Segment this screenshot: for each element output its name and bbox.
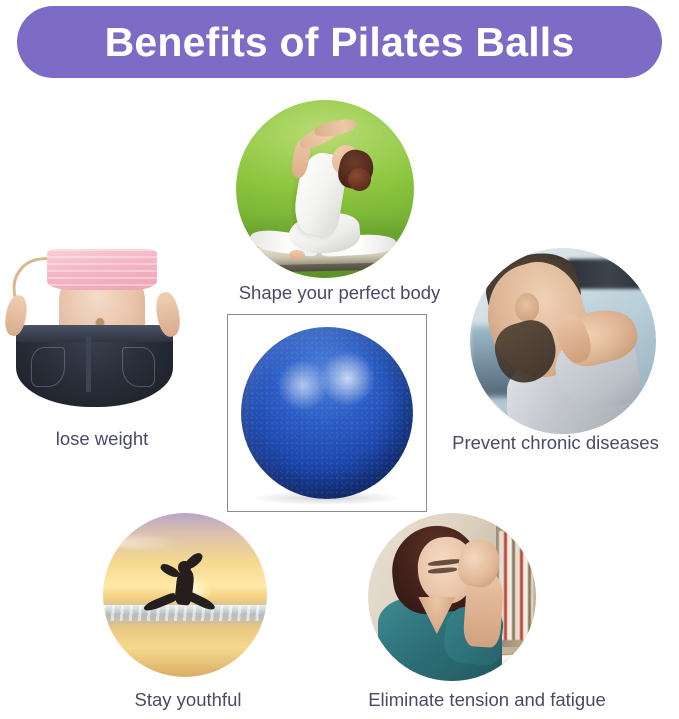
jumping-silhouette xyxy=(152,556,218,641)
blue-pilates-ball xyxy=(241,327,413,499)
clouds xyxy=(110,536,182,549)
pink-tube-top xyxy=(47,249,157,290)
benefit-caption-eliminate-tension-and-fatigue: Eliminate tension and fatigue xyxy=(332,689,642,710)
jeans-pocket-left xyxy=(31,347,64,386)
benefit-image-prevent-chronic-diseases xyxy=(470,248,656,434)
benefit-image-lose-weight xyxy=(4,232,200,418)
page-title: Benefits of Pilates Balls xyxy=(105,22,575,63)
benefit-caption-lose-weight: lose weight xyxy=(4,428,200,449)
jumper-head xyxy=(178,561,190,575)
benefit-caption-stay-youthful: Stay youthful xyxy=(98,689,278,710)
header-banner: Benefits of Pilates Balls xyxy=(17,6,662,78)
white-background xyxy=(4,232,200,418)
jeans-pocket-right xyxy=(122,347,155,386)
product-image-frame xyxy=(227,314,427,512)
benefit-image-shape-your-perfect-body xyxy=(236,100,414,278)
benefit-image-eliminate-tension-and-fatigue xyxy=(368,513,536,681)
benefit-caption-prevent-chronic-diseases: Prevent chronic diseases xyxy=(432,432,679,453)
benefit-image-stay-youthful xyxy=(103,513,267,677)
yoga-hair-bun xyxy=(348,168,371,191)
jeans-waistband xyxy=(16,325,173,342)
jeans-fly xyxy=(86,336,91,392)
man-ear xyxy=(515,293,539,323)
